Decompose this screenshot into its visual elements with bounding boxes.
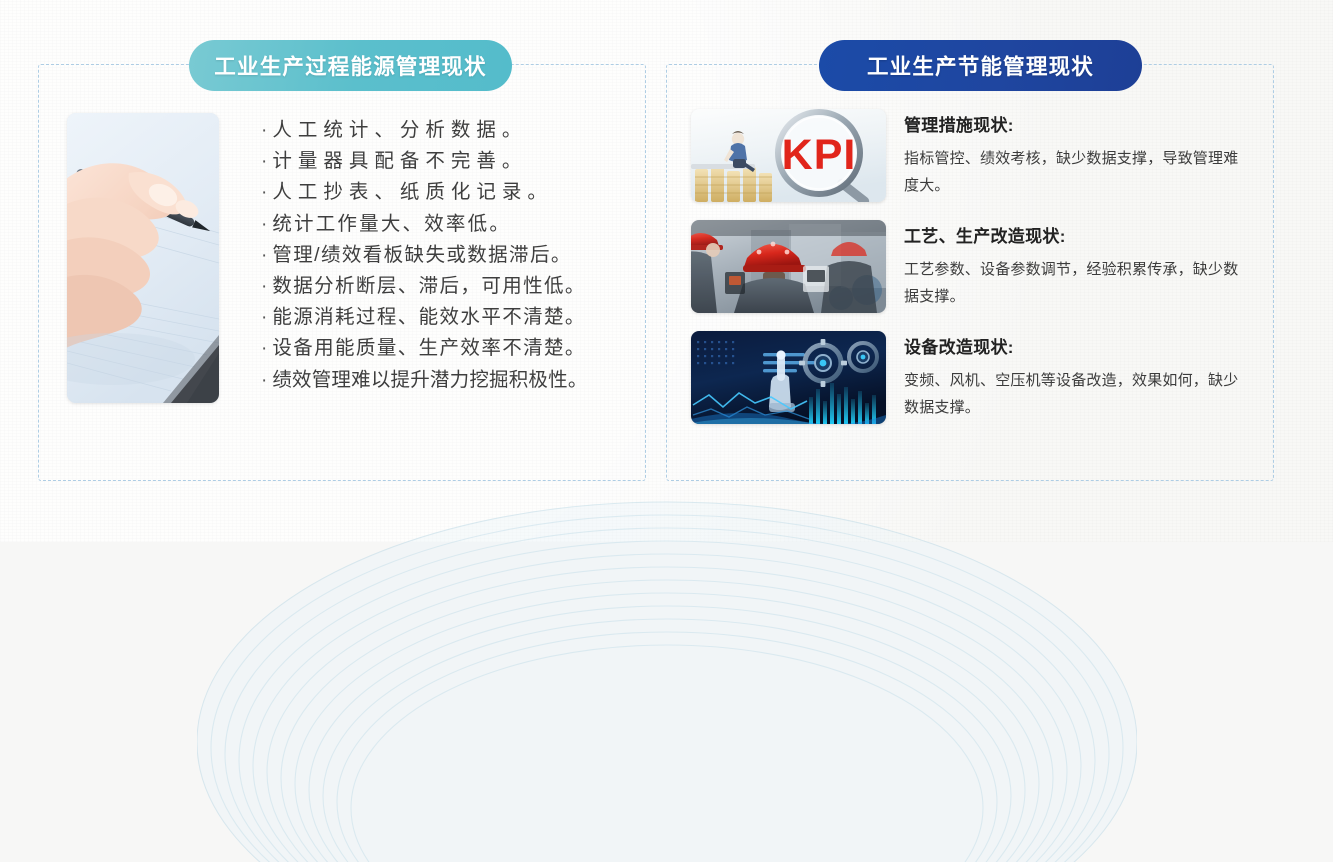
list-item: · 计量器具配备不完善。 [261,146,645,177]
info-heading: 设备改造现状: [904,333,1251,358]
info-description: 变频、风机、空压机等设备改造，效果如何，缺少数据支撑。 [904,367,1251,421]
bullet-dot-icon: · [261,116,267,146]
concentric-arc-decoration [197,442,1137,862]
info-description: 工艺参数、设备参数调节，经验积累传承，缺少数据支撑。 [904,256,1251,310]
list-item-text: 数据分析断层、滞后，可用性低。 [272,271,586,301]
list-item: · 绩效管理难以提升潜力挖掘积极性。 [261,365,645,396]
info-text: 工艺、生产改造现状: 工艺参数、设备参数调节，经验积累传承，缺少数据支撑。 [904,220,1251,310]
bullet-dot-icon: · [261,272,267,302]
bullet-dot-icon: · [261,178,267,208]
list-item-text: 管理/绩效看板缺失或数据滞后。 [272,240,571,270]
list-item-text: 绩效管理难以提升潜力挖掘积极性。 [272,365,587,395]
info-text: 设备改造现状: 变频、风机、空压机等设备改造，效果如何，缺少数据支撑。 [904,331,1251,421]
bullet-dot-icon: · [261,147,267,177]
panel-energy-management-status: 工业生产过程能源管理现状 [38,64,646,481]
list-item-text: 计量器具配备不完善。 [272,146,527,176]
list-item: · 统计工作量大、效率低。 [261,209,645,240]
hand-writing-on-paper-photo [67,113,219,403]
bullet-dot-icon: · [261,303,267,333]
digital-dashboard-hand-touch-photo [691,331,886,424]
info-block: 工艺、生产改造现状: 工艺参数、设备参数调节，经验积累传承，缺少数据支撑。 [691,220,1251,313]
list-item: · 人工统计、分析数据。 [261,115,645,146]
svg-text:KPI: KPI [782,131,857,179]
list-item-text: 设备用能质量、生产效率不清楚。 [272,333,586,363]
list-item: · 人工抄表、纸质化记录。 [261,177,645,208]
info-heading: 管理措施现状: [904,111,1251,136]
list-item: · 能源消耗过程、能效水平不清楚。 [261,302,645,333]
panel-energy-saving-status: 工业生产节能管理现状 [666,64,1274,481]
panel-right-body: KPI [667,65,1273,480]
info-heading: 工艺、生产改造现状: [904,222,1251,247]
info-text: 管理措施现状: 指标管控、绩效考核，缺少数据支撑，导致管理难度大。 [904,109,1251,199]
bullet-dot-icon: · [261,334,267,364]
list-item: · 数据分析断层、滞后，可用性低。 [261,271,645,302]
info-description: 指标管控、绩效考核，缺少数据支撑，导致管理难度大。 [904,145,1251,199]
bullet-dot-icon: · [261,366,267,396]
list-item: · 设备用能质量、生产效率不清楚。 [261,333,645,364]
workers-red-helmets-factory-photo [691,220,886,313]
panel-left-body: · 人工统计、分析数据。 · 计量器具配备不完善。 · 人工抄表、纸质化记录。 … [39,65,645,480]
list-item-text: 人工抄表、纸质化记录。 [272,177,553,207]
list-item: · 管理/绩效看板缺失或数据滞后。 [261,240,645,271]
bullet-dot-icon: · [261,210,267,240]
bullet-dot-icon: · [261,241,267,271]
list-item-text: 人工统计、分析数据。 [272,115,527,145]
list-item-text: 统计工作量大、效率低。 [272,209,511,239]
kpi-magnifier-coins-photo: KPI [691,109,886,202]
info-block: 设备改造现状: 变频、风机、空压机等设备改造，效果如何，缺少数据支撑。 [691,331,1251,424]
info-block: KPI [691,109,1251,202]
energy-management-issue-list: · 人工统计、分析数据。 · 计量器具配备不完善。 · 人工抄表、纸质化记录。 … [261,115,645,396]
list-item-text: 能源消耗过程、能效水平不清楚。 [272,302,586,332]
